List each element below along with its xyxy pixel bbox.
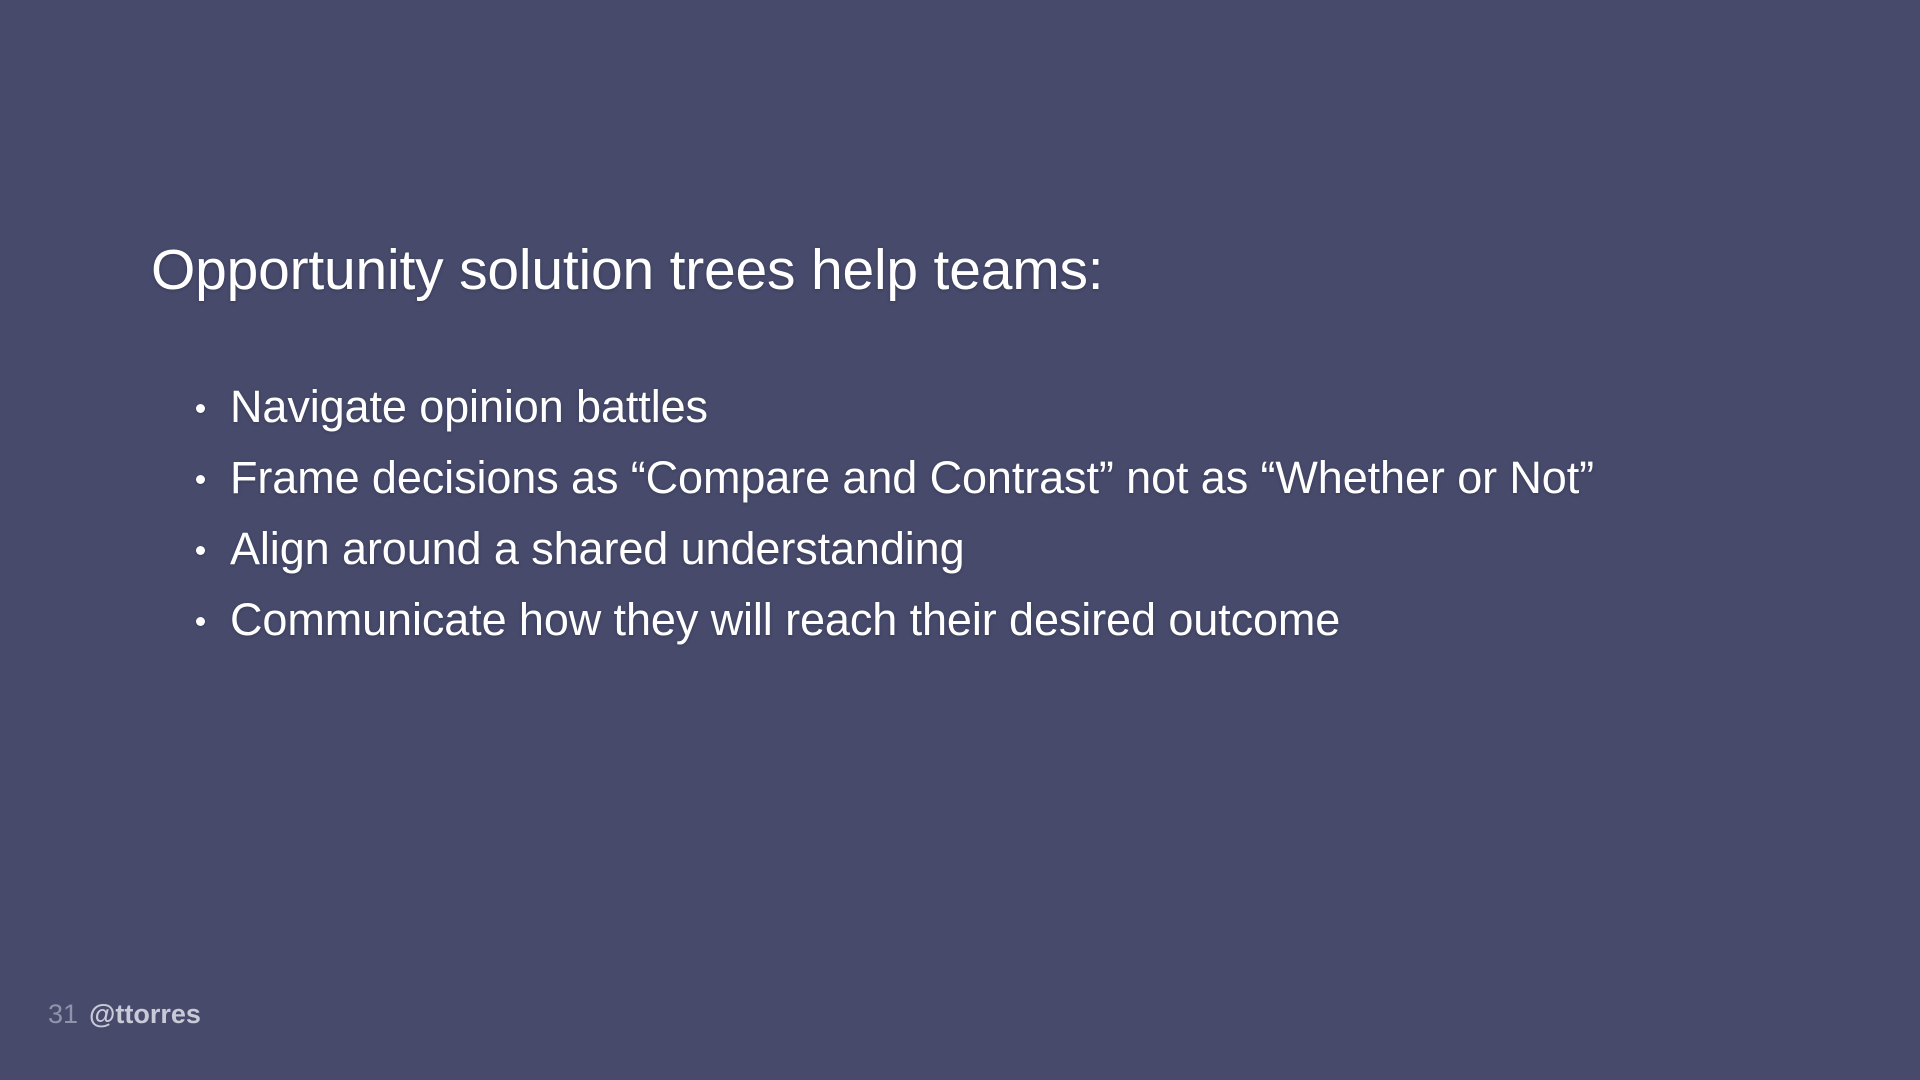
bullet-list: Navigate opinion battles Frame decisions… [188,374,1688,653]
list-item: Navigate opinion battles [188,374,1688,440]
list-item-label: Frame decisions as “Compare and Contrast… [230,445,1688,511]
list-item: Frame decisions as “Compare and Contrast… [188,445,1688,511]
list-item-label: Navigate opinion battles [230,374,1688,440]
author-handle: @ttorres [89,999,201,1030]
bullet-dot-icon [196,475,205,484]
page-number: 31 [48,999,78,1030]
presentation-slide: Opportunity solution trees help teams: N… [0,0,1920,1080]
list-item-label: Align around a shared understanding [230,516,1688,582]
list-item: Communicate how they will reach their de… [188,587,1688,653]
list-item: Align around a shared understanding [188,516,1688,582]
bullet-dot-icon [196,617,205,626]
bullet-dot-icon [196,546,205,555]
bullet-dot-icon [196,404,205,413]
slide-footer: 31 @ttorres [48,999,201,1030]
list-item-label: Communicate how they will reach their de… [230,587,1688,653]
page-title: Opportunity solution trees help teams: [151,241,1103,301]
